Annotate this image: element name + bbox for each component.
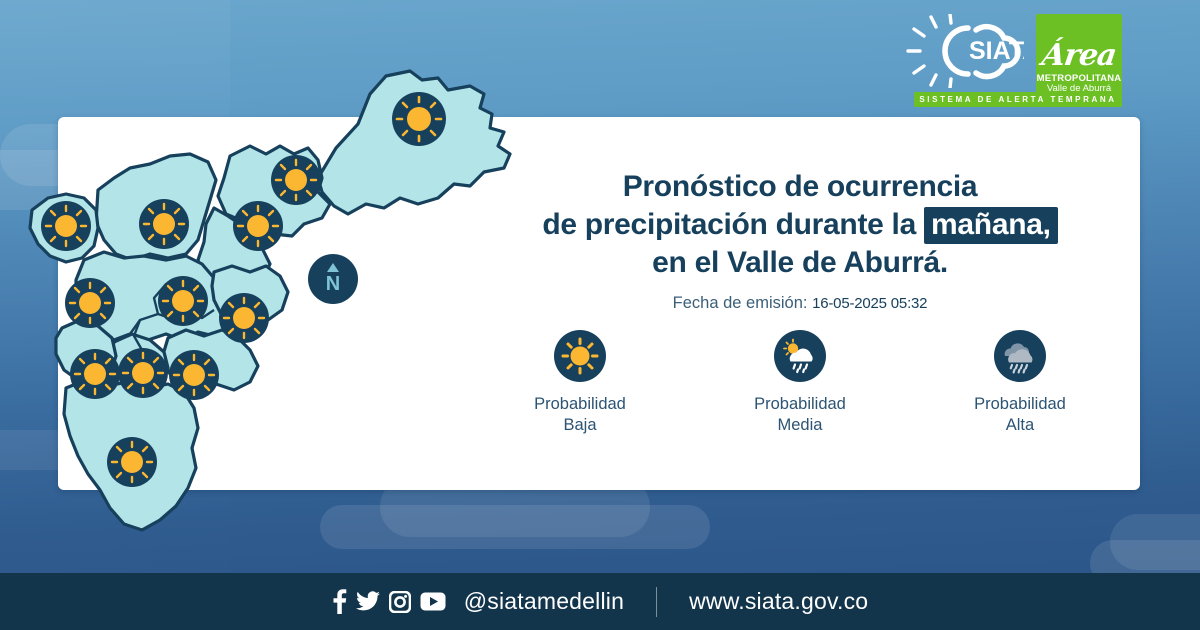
sun-icon bbox=[554, 330, 606, 382]
social-handle[interactable]: @siatamedellin bbox=[464, 588, 624, 615]
map-marker-itagui[interactable] bbox=[65, 278, 115, 328]
map-marker-sabaneta[interactable] bbox=[118, 348, 168, 398]
legend-item-baja: Probabilidad Baja bbox=[495, 330, 665, 436]
area-metropolitana-logo: Área METROPOLITANA Valle de Aburrá bbox=[1036, 14, 1122, 98]
map-marker-envigado[interactable] bbox=[169, 350, 219, 400]
compass-label: N bbox=[326, 273, 340, 295]
headline-line-1: Pronóstico de ocurrencia bbox=[470, 168, 1130, 206]
legend-label-media-line2: Media bbox=[754, 415, 846, 436]
footer-divider bbox=[656, 587, 657, 617]
headline-line-3: en el Valle de Aburrá. bbox=[470, 244, 1130, 282]
emission-label: Fecha de emisión: bbox=[673, 294, 808, 312]
cloud-heavy-rain-icon bbox=[994, 330, 1046, 382]
map-marker-la-estrella[interactable] bbox=[70, 349, 120, 399]
legend-item-alta: Probabilidad Alta bbox=[935, 330, 1105, 436]
legend-label-alta-line2: Alta bbox=[974, 415, 1066, 436]
map-marker-girardota[interactable] bbox=[271, 155, 321, 205]
emission-row: Fecha de emisión: 16-05-2025 05:32 bbox=[470, 294, 1130, 313]
legend-label-baja: Probabilidad Baja bbox=[534, 394, 626, 436]
map-svg: N bbox=[18, 28, 538, 553]
valle-de-aburra-map: N bbox=[18, 28, 538, 553]
instagram-icon[interactable] bbox=[389, 591, 411, 613]
legend-label-baja-line2: Baja bbox=[534, 415, 626, 436]
siata-logo-icon: SIATA bbox=[906, 14, 1024, 88]
social-icons bbox=[332, 589, 446, 614]
twitter-icon[interactable] bbox=[356, 591, 380, 613]
map-marker-bello[interactable] bbox=[41, 201, 91, 251]
compass-rose-icon: N bbox=[308, 254, 358, 304]
map-marker-barbosa[interactable] bbox=[392, 92, 446, 146]
map-marker-medellin[interactable] bbox=[158, 276, 208, 326]
facebook-icon[interactable] bbox=[332, 589, 347, 614]
website-url[interactable]: www.siata.gov.co bbox=[689, 588, 868, 615]
map-marker-medellin-norte[interactable] bbox=[219, 293, 269, 343]
sun-cloud-rain-icon bbox=[774, 330, 826, 382]
tagline-text: SISTEMA DE ALERTA TEMPRANA bbox=[919, 95, 1116, 104]
tagline-bar: SISTEMA DE ALERTA TEMPRANA bbox=[914, 92, 1122, 107]
footer-bar: @siatamedellin www.siata.gov.co bbox=[0, 573, 1200, 630]
youtube-icon[interactable] bbox=[420, 592, 446, 611]
headline-block: Pronóstico de ocurrencia de precipitació… bbox=[470, 168, 1130, 313]
logo-group: SIATA Área METROPOLITANA Valle de Aburrá bbox=[906, 14, 1122, 98]
map-marker-san-pedro[interactable] bbox=[139, 199, 189, 249]
legend-label-alta: Probabilidad Alta bbox=[974, 394, 1066, 436]
legend-label-media-line1: Probabilidad bbox=[754, 394, 846, 415]
legend-label-media: Probabilidad Media bbox=[754, 394, 846, 436]
legend-label-baja-line1: Probabilidad bbox=[534, 394, 626, 415]
emission-date: 16-05-2025 05:32 bbox=[812, 295, 927, 312]
siata-wordmark: SIATA bbox=[969, 37, 1024, 65]
siata-logo: SIATA bbox=[906, 14, 1024, 88]
legend-label-alta-line1: Probabilidad bbox=[974, 394, 1066, 415]
legend-item-media: Probabilidad Media bbox=[715, 330, 885, 436]
footer-content: @siatamedellin www.siata.gov.co bbox=[332, 587, 869, 617]
headline-highlight: mañana, bbox=[924, 207, 1058, 244]
infographic-poster: N SIATA Área MET bbox=[0, 0, 1200, 630]
headline-line-2-pre: de precipitación durante la bbox=[542, 208, 916, 241]
area-script-text: Área bbox=[1040, 41, 1118, 71]
probability-legend: Probabilidad Baja bbox=[470, 330, 1130, 436]
headline-line-2: de precipitación durante la mañana, bbox=[470, 206, 1130, 244]
map-marker-caldas[interactable] bbox=[107, 437, 157, 487]
map-marker-copacabana[interactable] bbox=[233, 201, 283, 251]
